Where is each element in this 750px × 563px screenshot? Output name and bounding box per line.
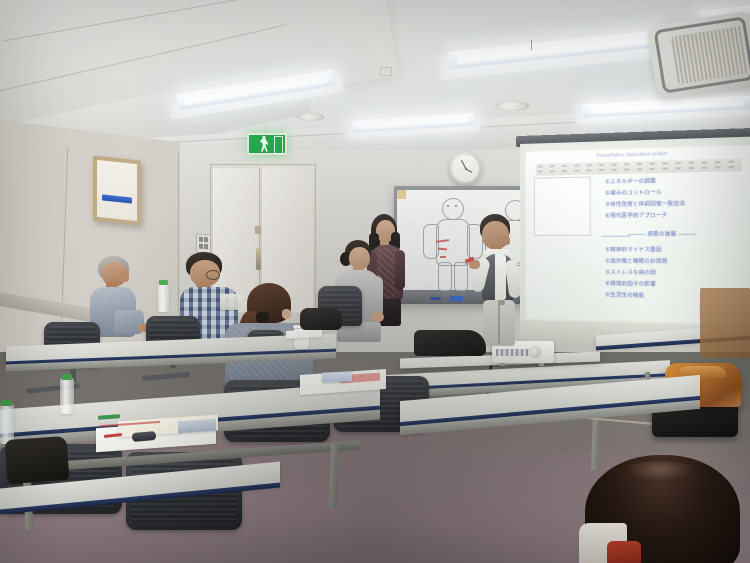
smoke-detector <box>380 67 392 76</box>
bottle-cap <box>1 400 12 406</box>
right-wall-panel <box>700 288 750 358</box>
black-bag <box>414 330 486 356</box>
slide-bullet: ②過労働と睡眠の計問題 <box>605 259 667 265</box>
ceiling-speaker <box>495 101 529 111</box>
slide-bullet: ①エネルギーの調整 <box>605 179 656 185</box>
instructor-shirt <box>495 254 506 300</box>
ceiling-hook <box>531 40 532 50</box>
person-instructor <box>471 214 527 344</box>
handout-papers[interactable] <box>322 371 352 383</box>
seated-man-face <box>120 272 129 282</box>
trouser-crease <box>498 300 500 344</box>
black-bag <box>5 436 70 484</box>
blue-marker[interactable] <box>430 297 441 300</box>
ceiling-speaker <box>297 113 324 121</box>
whiteboard-eraser[interactable] <box>450 296 463 301</box>
slide-app-toolbar <box>536 158 742 175</box>
water-bottle[interactable] <box>158 283 169 312</box>
slide-bullet: ①精神的マイナス要因 <box>605 248 661 253</box>
ponytail-woman-ear <box>282 309 291 319</box>
ceiling-air-conditioner <box>647 10 750 99</box>
slide-side-panel <box>534 176 591 235</box>
slide-bullet: ②痛みのコントロール <box>605 191 662 197</box>
wall-clock <box>449 152 482 185</box>
exit-sign <box>247 133 287 155</box>
slide-bullet: ③体性改善と体調回復一致治法 <box>605 202 685 208</box>
black-bag <box>300 308 342 330</box>
pocket <box>498 300 505 305</box>
hair-clip <box>256 312 269 323</box>
bottle-cap <box>159 280 168 285</box>
person-foreground-head <box>585 455 740 563</box>
bottle-cap <box>62 374 72 380</box>
wall-corner-seam <box>178 152 179 342</box>
slide-section-heading: ――― 病態の進展 ――― <box>628 232 696 238</box>
foreground-red-garment <box>607 541 641 563</box>
light-switch-plate[interactable] <box>196 233 211 253</box>
eyeglasses-worn <box>206 270 220 280</box>
hair-highlight <box>625 461 695 481</box>
instructor-face <box>497 236 510 245</box>
photo-scene: Presentation application toolbar ①エネルギーの… <box>0 0 750 563</box>
framed-picture <box>93 155 141 225</box>
gray-top-woman-hand <box>371 312 384 322</box>
door-handle[interactable] <box>256 248 261 270</box>
slide-bullet: ③ストレスな病の関 <box>605 271 656 277</box>
standing-woman-arm <box>395 250 405 290</box>
projector-lens <box>529 346 541 358</box>
slide-bullet: ⑤生活生の機能 <box>605 293 644 299</box>
water-bottle[interactable] <box>60 378 74 414</box>
slide-bullet: ④現代医学的アプローチ <box>605 214 667 220</box>
slide-window-title: Presentation application toolbar <box>597 151 668 158</box>
whiteboard-red-mark <box>440 256 446 258</box>
water-bottle[interactable] <box>0 404 14 444</box>
slide-bullet: ④環境的因子の影響 <box>605 282 656 288</box>
